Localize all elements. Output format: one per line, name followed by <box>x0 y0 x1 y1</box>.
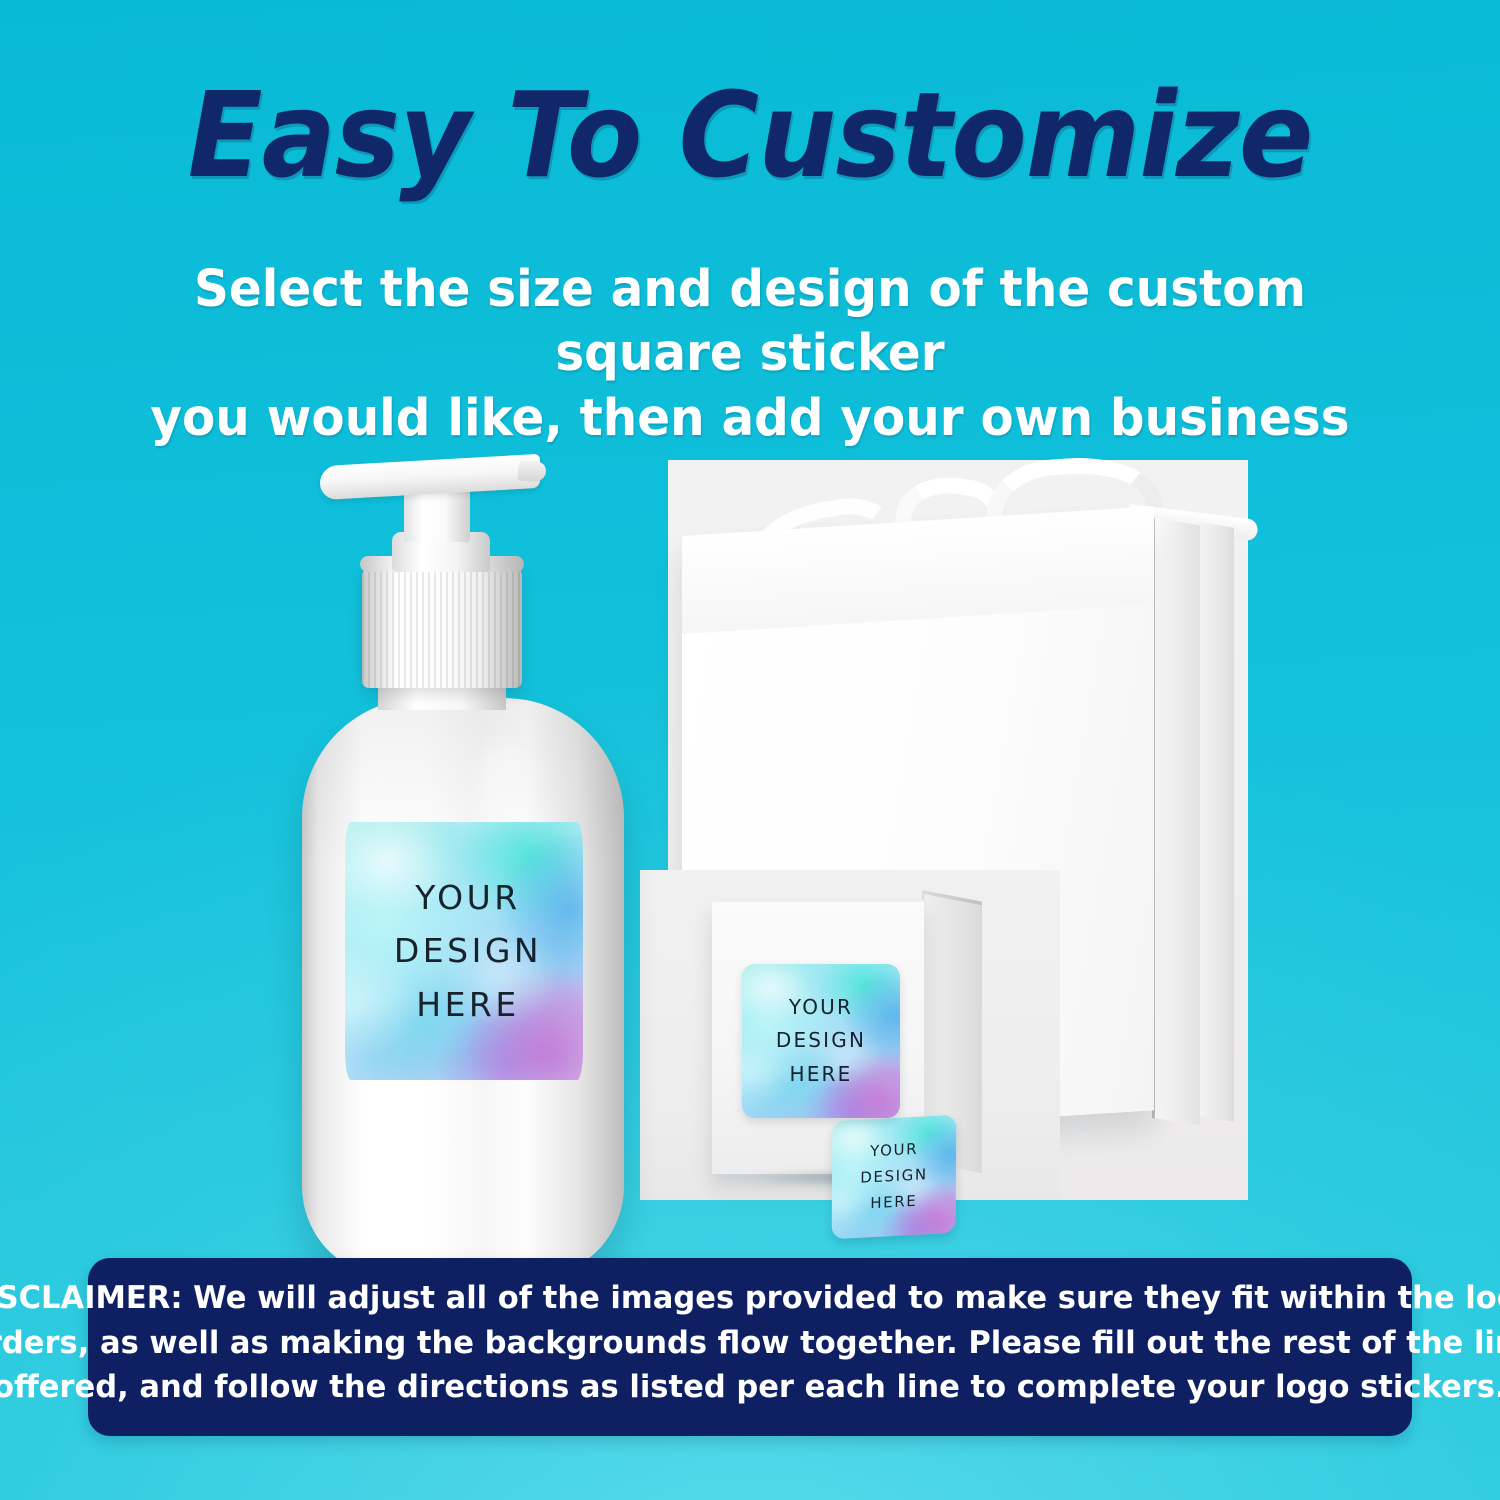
gift-box-side <box>1154 518 1200 1125</box>
pump-nozzle-icon <box>320 454 540 500</box>
disclaimer-text: DISCLAIMER: We will adjust all of the im… <box>0 1276 1500 1410</box>
sticker-line-1: YOUR <box>415 871 520 924</box>
sticker-line-3: HERE <box>789 1058 852 1091</box>
disclaimer-line-2: borders, as well as making the backgroun… <box>0 1321 1500 1366</box>
sticker-text: YOUR DESIGN HERE <box>832 1115 957 1240</box>
promo-banner: Easy To Customize Select the size and de… <box>0 0 1500 1500</box>
sticker-text: YOUR DESIGN HERE <box>742 964 900 1118</box>
pump-bottle-mockup: YOUR DESIGN HERE <box>300 440 630 1280</box>
sticker-line-2: DESIGN <box>394 924 542 977</box>
sticker-on-product-box[interactable]: YOUR DESIGN HERE <box>742 964 900 1118</box>
sticker-line-1: YOUR <box>870 1137 918 1165</box>
sticker-line-2: DESIGN <box>776 1024 866 1057</box>
product-scene: YOUR DESIGN HERE YOUR DESIGN HERE <box>0 400 1500 1260</box>
sticker-line-1: YOUR <box>789 991 853 1024</box>
sticker-on-bottle-label[interactable]: YOUR DESIGN HERE <box>345 822 583 1080</box>
bottle-ribbed-cap <box>362 564 522 688</box>
sticker-line-3: HERE <box>416 978 519 1031</box>
page-title: Easy To Customize <box>53 76 1448 194</box>
gift-box-side-back <box>1198 522 1234 1122</box>
disclaimer-line-3: offered, and follow the directions as li… <box>0 1365 1500 1410</box>
sticker-on-gift-box[interactable]: YOUR DESIGN HERE <box>832 1115 957 1240</box>
subtitle-line-1: Select the size and design of the custom… <box>142 258 1358 387</box>
sticker-line-2: DESIGN <box>860 1162 928 1191</box>
disclaimer-line-1: DISCLAIMER: We will adjust all of the im… <box>0 1276 1500 1321</box>
sticker-line-3: HERE <box>870 1189 917 1217</box>
disclaimer-banner: DISCLAIMER: We will adjust all of the im… <box>88 1258 1412 1436</box>
sticker-text: YOUR DESIGN HERE <box>345 822 583 1080</box>
